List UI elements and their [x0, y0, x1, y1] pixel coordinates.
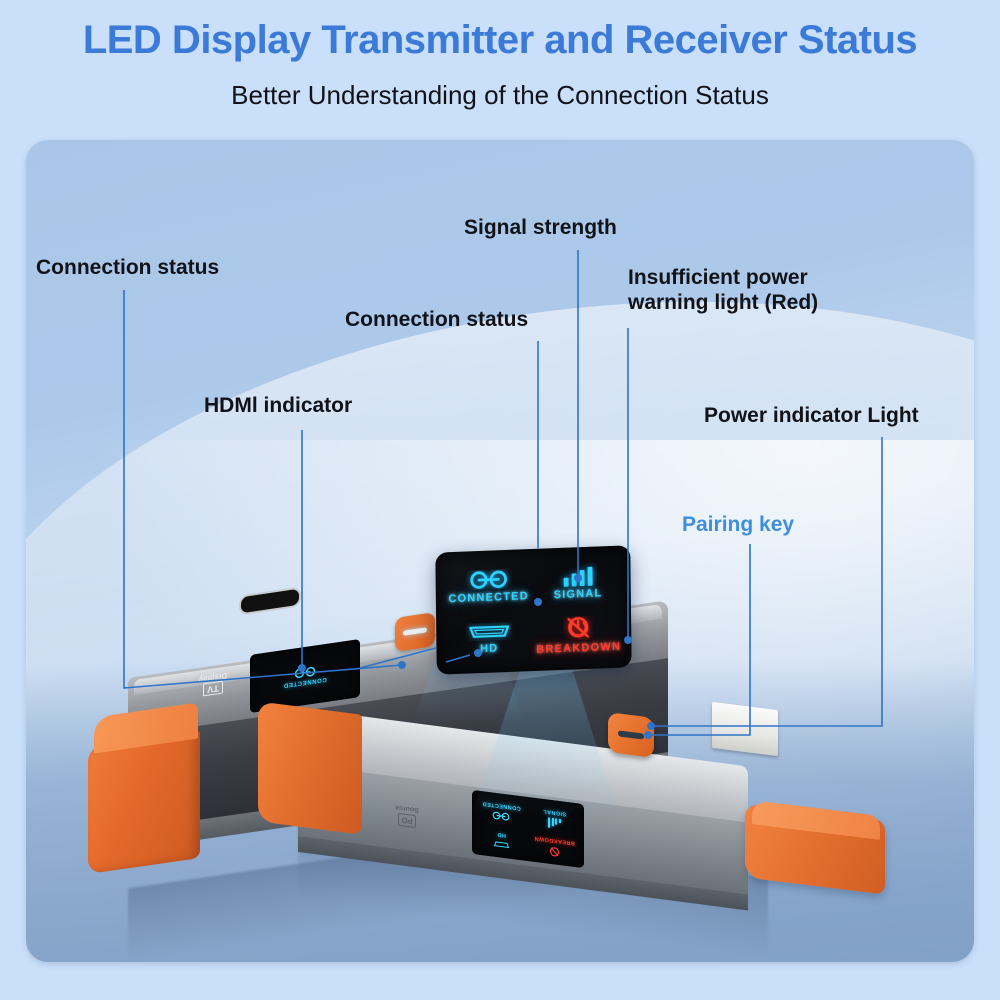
callout-label-signal-strength: Signal strength: [464, 216, 617, 241]
chain-link-icon: [491, 810, 513, 822]
callout-label-pairing-key: Pairing key: [682, 513, 794, 538]
led-signal-label: SIGNAL: [554, 587, 603, 601]
signal-bars-icon: [563, 566, 592, 586]
receiver-hd-label: HD: [497, 830, 506, 839]
page-subtitle: Better Understanding of the Connection S…: [0, 80, 1000, 111]
callout-label-connection-status-panel: Connection status: [345, 308, 528, 333]
enlarged-led-display-card: CONNECTED SIGNAL HD: [435, 545, 631, 675]
receiver-orange-cap: [258, 701, 362, 835]
led-indicator-connected: CONNECTED: [443, 559, 533, 614]
hdmi-plug-connector: [712, 702, 778, 756]
callout-label-insufficient-power: Insufficient power warning light (Red): [628, 266, 818, 316]
chain-link-icon: [465, 569, 511, 591]
receiver-indicator-hd: HD: [493, 829, 510, 849]
signal-bars-icon: [548, 817, 561, 828]
led-indicator-breakdown: BREAKDOWN: [534, 608, 624, 663]
callout-label-connection-status-left: Connection status: [36, 256, 219, 281]
receiver-brand-line1: PD: [398, 813, 415, 828]
hdmi-port-icon: [466, 622, 512, 642]
receiver-breakdown-label: BREAKDOWN: [534, 833, 575, 846]
led-indicator-signal: SIGNAL: [533, 556, 623, 611]
receiver-connected-label: CONNECTED: [482, 799, 520, 812]
callout-label-hdmi-indicator: HDMl indicator: [204, 394, 352, 419]
no-power-icon: [548, 845, 561, 858]
led-hd-label: HD: [480, 642, 498, 655]
receiver-indicator-breakdown: BREAKDOWN: [534, 833, 575, 859]
receiver-indicator-connected: CONNECTED: [482, 799, 520, 823]
page-title: LED Display Transmitter and Receiver Sta…: [0, 18, 1000, 63]
receiver-pairing-button[interactable]: [608, 712, 654, 758]
led-breakdown-label: BREAKDOWN: [536, 641, 621, 656]
callout-label-power-indicator: Power indicator Light: [704, 404, 919, 429]
led-connected-label: CONNECTED: [448, 590, 529, 605]
receiver-signal-label: SIGNAL: [543, 806, 566, 817]
no-power-icon: [563, 616, 593, 641]
hdmi-port-icon: [493, 840, 510, 850]
infographic-stage: LED Display Transmitter and Receiver Sta…: [0, 0, 1000, 1000]
transmitter-pairing-button[interactable]: [395, 612, 435, 652]
led-indicator-hd: HD: [444, 611, 534, 666]
receiver-indicator-signal: SIGNAL: [543, 806, 566, 828]
